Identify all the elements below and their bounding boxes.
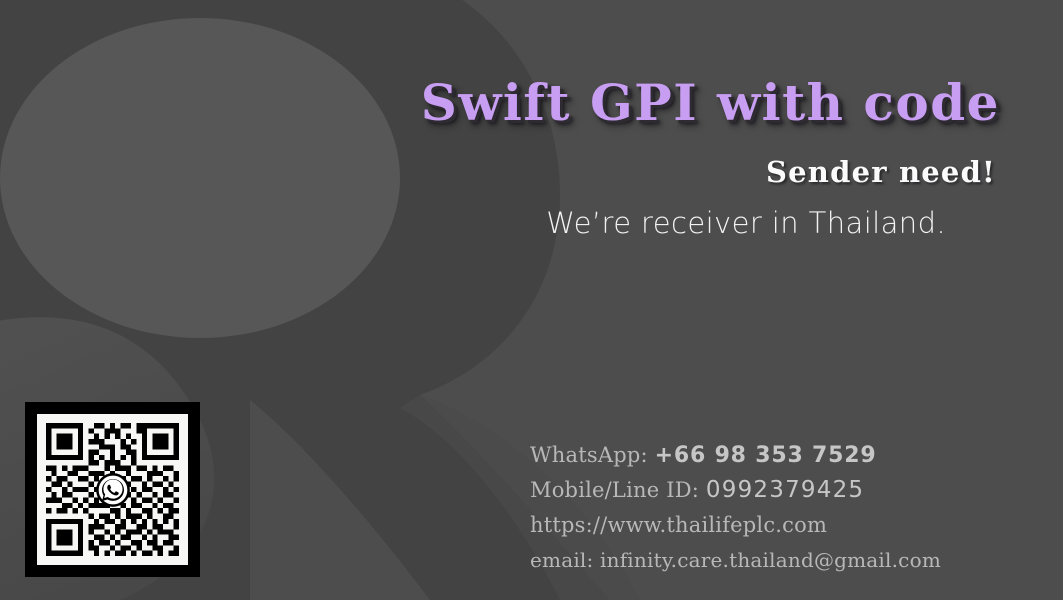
contact-value-mobile[interactable]: 0992379425: [706, 477, 864, 503]
contact-value-email[interactable]: infinity.care.thailand@gmail.com: [600, 548, 941, 572]
contact-label-mobile: Mobile/Line ID:: [530, 478, 699, 502]
contact-line-email: email: infinity.care.thailand@gmail.com: [530, 543, 1000, 578]
contact-line-mobile: Mobile/Line ID: 0992379425: [530, 473, 1000, 508]
contact-value-whatsapp[interactable]: +66 98 353 7529: [655, 443, 877, 468]
contact-value-website[interactable]: https://www.thailifeplc.com: [530, 513, 827, 537]
contact-line-whatsapp: WhatsApp: +66 98 353 7529: [530, 438, 1000, 473]
whatsapp-icon: [96, 473, 130, 507]
qr-quiet-zone: [37, 414, 188, 565]
contact-block: WhatsApp: +66 98 353 7529 Mobile/Line ID…: [530, 438, 1000, 578]
contact-label-whatsapp: WhatsApp:: [530, 443, 648, 467]
contact-label-email: email:: [530, 548, 593, 572]
qr-code[interactable]: [25, 402, 200, 577]
subtitle: Sender need!: [16, 158, 996, 187]
business-card: Swift GPI with code Sender need! We’re r…: [0, 0, 1063, 600]
page-title: Swift GPI with code: [20, 78, 1000, 128]
tagline: We’re receiver in Thailand.: [16, 208, 946, 240]
contact-line-website[interactable]: https://www.thailifeplc.com: [530, 508, 1000, 543]
